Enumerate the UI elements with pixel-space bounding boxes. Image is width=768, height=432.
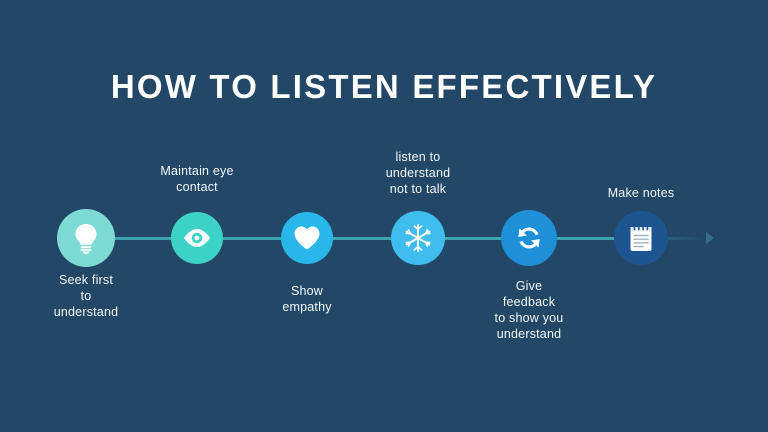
step-4-label: listen tounderstandnot to talk [338,149,498,197]
flow-step-2: Maintain eyecontact [117,0,277,432]
step-1-label: Seek firsttounderstand [6,272,166,320]
connector-line-3-4 [332,237,392,240]
step-2-label: Maintain eyecontact [117,163,277,195]
flow-step-3: Showempathy [227,0,387,432]
step-3-circle[interactable] [281,212,333,264]
connector-line-1-2 [112,237,174,240]
heart-icon [293,225,321,251]
step-5-label: Givefeedbackto show youunderstand [449,278,609,342]
connector-line-4-5 [444,237,502,240]
flow-step-4: listen tounderstandnot to talk [338,0,498,432]
connector-line-2-3 [222,237,282,240]
step-3-label: Showempathy [227,283,387,315]
notepad-icon [628,223,654,253]
refresh-sync-icon [513,222,545,254]
infographic-canvas: HOW TO LISTEN EFFECTIVELY Seek firsttoun… [0,0,768,432]
step-2-circle[interactable] [171,212,223,264]
lightbulb-icon [71,222,101,254]
step-6-label: Make notes [561,185,721,201]
connector-line-5-6 [556,237,615,240]
step-6-circle[interactable] [614,211,668,265]
flow-step-5: Givefeedbackto show youunderstand [449,0,609,432]
snowflake-icon [403,223,433,253]
step-5-circle[interactable] [501,210,557,266]
step-1-circle[interactable] [57,209,115,267]
flow-step-6: Make notes [561,0,721,432]
connector-line-tail [667,237,709,240]
arrow-right-icon [706,232,714,244]
step-4-circle[interactable] [391,211,445,265]
page-title: HOW TO LISTEN EFFECTIVELY [0,68,768,106]
flow-step-1: Seek firsttounderstand [6,0,166,432]
footer: usinessyield.com @BUSINESS_YIELD @BUSI [0,378,768,426]
eye-icon [182,228,212,248]
